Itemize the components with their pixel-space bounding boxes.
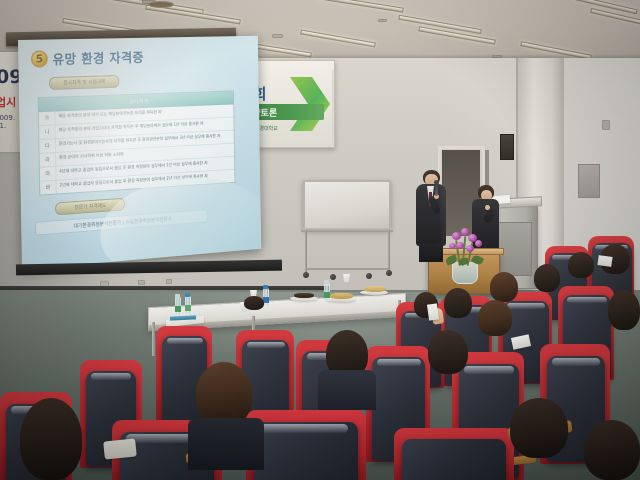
ceiling-light-fixture <box>300 29 376 47</box>
glass-vase <box>452 262 478 284</box>
ceiling-vent <box>378 19 387 22</box>
orchid-bloom <box>449 243 456 249</box>
ceiling-vent <box>272 34 283 38</box>
bottle-cap <box>263 285 268 289</box>
slide-number-badge: 5 <box>31 50 48 67</box>
bottle-cap <box>324 280 329 284</box>
presentation-slide: 5 유망 환경 자격증 응시자격 및 시험과목 응시자격 가 해당 자격증의 분… <box>18 36 261 270</box>
slide-title: 유망 환경 자격증 <box>52 47 144 68</box>
seat-highlight <box>247 342 285 348</box>
whiteboard-wheel <box>386 270 392 276</box>
row-key: 가 <box>39 112 56 126</box>
hand <box>485 205 490 210</box>
banner-red-text: 업시 <box>0 94 16 110</box>
ceiling-light-fixture <box>318 0 404 13</box>
slide-title-row: 5 유망 환경 자격증 <box>31 45 251 68</box>
slide-top-button: 응시자격 및 시험과목 <box>49 75 119 90</box>
whiteboard-wheel <box>366 273 372 279</box>
wall-panel <box>578 164 600 198</box>
snack-food <box>294 293 314 298</box>
bottle-label <box>185 305 191 311</box>
seat-highlight <box>507 303 545 309</box>
bottle-cap <box>175 294 180 298</box>
whiteboard-leg <box>388 230 390 272</box>
audience-head <box>608 290 640 330</box>
whiteboard-marker-tray <box>301 228 393 232</box>
bottle-cap <box>185 293 190 297</box>
audience-head <box>534 264 560 292</box>
standing-presenter <box>414 170 448 260</box>
orchid-bloom <box>466 245 474 252</box>
banner-roller <box>332 69 335 147</box>
audience-torso <box>318 370 376 410</box>
seat-highlight <box>260 424 348 433</box>
audience-head <box>478 300 512 336</box>
wall-speaker-icon <box>500 134 514 160</box>
snack-food <box>330 293 353 299</box>
bottle-label <box>175 306 181 312</box>
wall-switch[interactable] <box>602 120 610 130</box>
row-key: 바 <box>40 181 57 195</box>
seat-highlight <box>377 359 421 366</box>
audience-head <box>428 330 468 374</box>
mobile-whiteboard <box>303 180 391 230</box>
audience-torso <box>188 418 264 470</box>
ceiling-speaker <box>148 1 174 8</box>
microphone-head-icon <box>434 180 439 185</box>
audience-head <box>244 296 264 310</box>
orchid-bloom <box>475 240 482 247</box>
wall-outlet <box>138 280 145 285</box>
held-paper <box>103 438 137 459</box>
orchid-bloom <box>452 232 461 240</box>
seat-highlight <box>167 338 203 344</box>
lecture-hall-photo: 09 업시 2009. 11. 수회 전략토론 국립 한경대학교 5 유망 환경… <box>0 0 640 480</box>
snack-food <box>364 286 386 292</box>
seat-highlight <box>567 297 607 303</box>
seat-highlight <box>91 373 131 380</box>
audience-head <box>20 398 82 480</box>
row-key: 라 <box>40 153 57 167</box>
table-leg <box>152 322 155 356</box>
seat-highlight <box>552 358 600 366</box>
audience-head <box>444 288 472 318</box>
held-paper <box>427 303 439 320</box>
row-key: 다 <box>39 139 56 153</box>
wall-outlet <box>166 279 172 284</box>
held-paper <box>597 255 612 267</box>
orchid-bloom <box>456 242 464 249</box>
seat-back <box>402 439 506 480</box>
whiteboard-wheel <box>330 274 336 280</box>
row-key: 마 <box>40 167 57 181</box>
seat-highlight <box>464 366 514 374</box>
whiteboard-crossbar <box>305 268 389 270</box>
projection-screen: 5 유망 환경 자격증 응시자격 및 시험과목 응시자격 가 해당 자격증의 분… <box>18 36 261 270</box>
leaf <box>459 258 468 265</box>
audience-head <box>510 398 568 458</box>
audience-head <box>584 420 640 480</box>
whiteboard-wheel <box>303 272 309 278</box>
audience-head <box>568 252 594 278</box>
audience-head <box>490 272 518 302</box>
row-key: 나 <box>39 125 56 139</box>
audience-head <box>196 362 252 426</box>
legs <box>419 244 443 262</box>
